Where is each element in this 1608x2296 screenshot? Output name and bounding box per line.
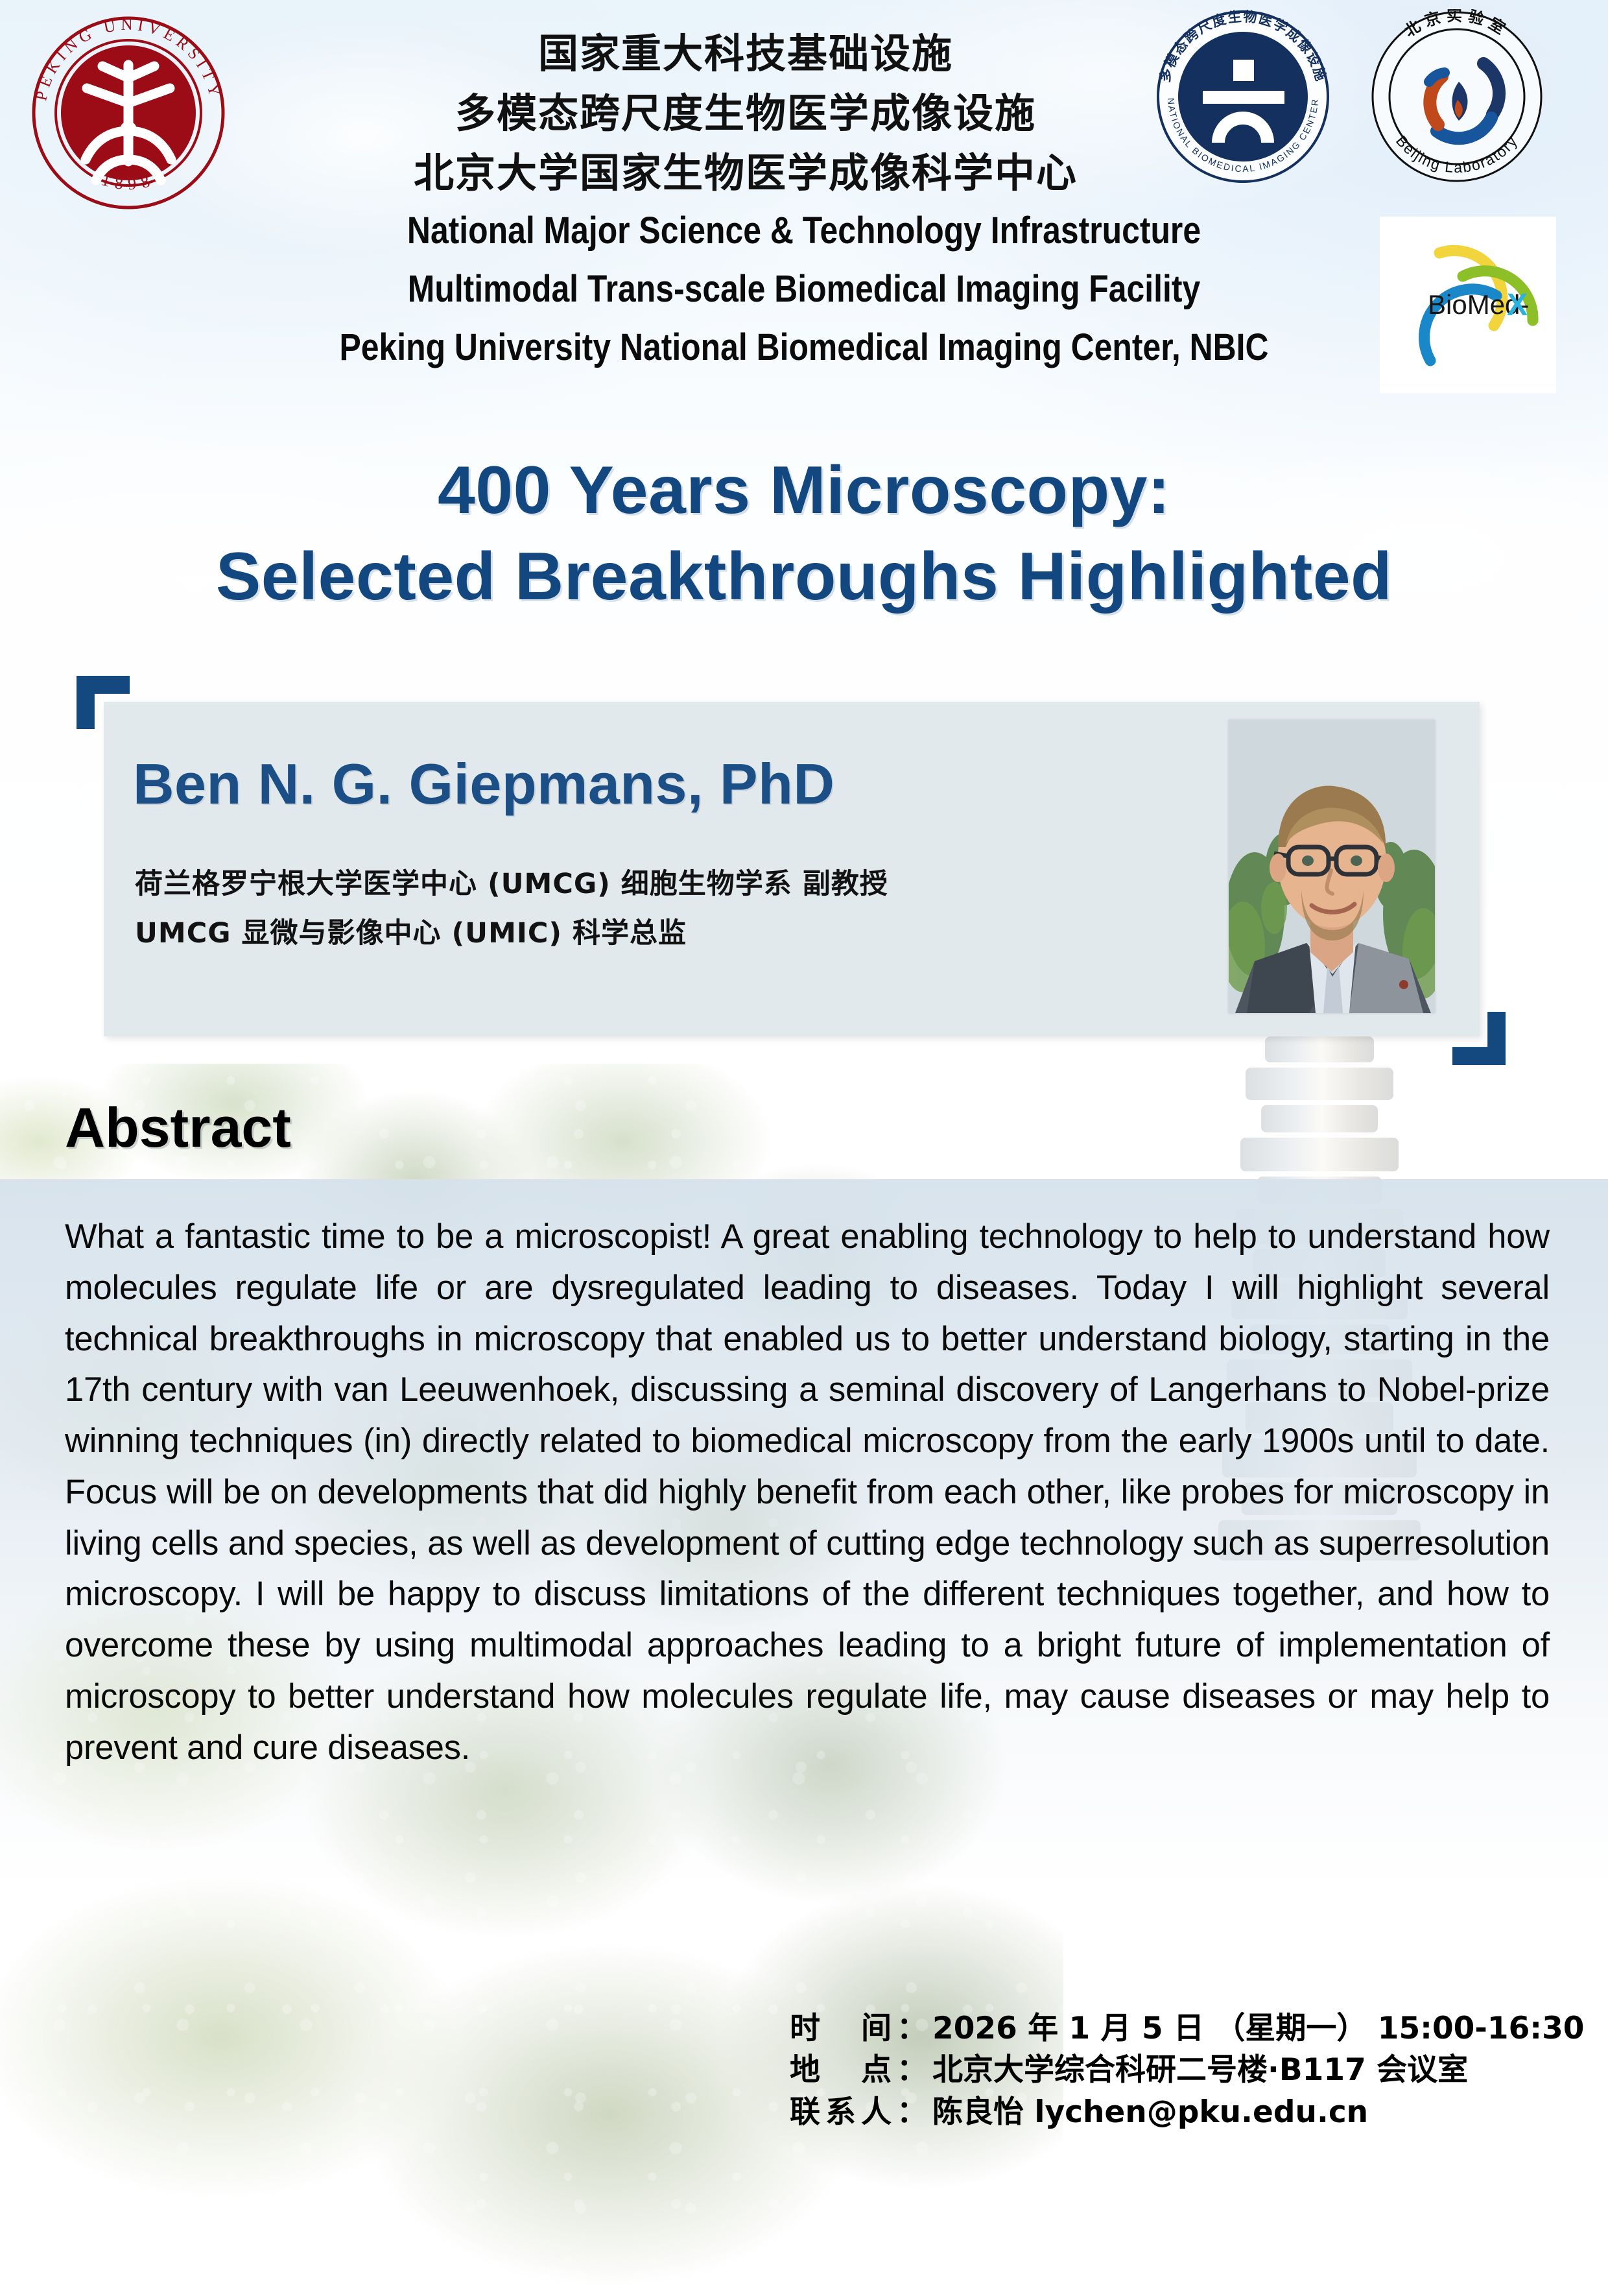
biomed-x-logo: BioMed- X (1380, 217, 1556, 393)
peking-university-logo: PEKING UNIVERSITY 1898 (31, 16, 226, 210)
event-place-label: 地 点： (790, 2052, 932, 2088)
beijing-laboratory-logo: 北京实验室 Beijing Laboratory (1369, 9, 1544, 184)
event-place-row: 地 点：北京大学综合科研二号楼·B117 会议室 (790, 2050, 1555, 2091)
nbic-logo: 多模态跨尺度生物医学成像设施 NATIONAL BIOMEDICAL IMAGI… (1155, 9, 1330, 184)
speaker-portrait-photo (1229, 720, 1435, 1013)
event-contact-value: 陈良怡 lychen@pku.edu.cn (932, 2094, 1368, 2130)
poster-title: 400 Years Microscopy: Selected Breakthro… (0, 448, 1608, 620)
header-cn-line-1: 国家重大科技基础设施 (337, 21, 1154, 79)
event-time-label: 时 间： (790, 2011, 932, 2046)
abstract-heading: Abstract (65, 1096, 291, 1160)
event-time-row: 时 间：2026 年 1 月 5 日 （星期一） 15:00-16:30 (790, 2008, 1555, 2050)
event-contact-row: 联系人：陈良怡 lychen@pku.edu.cn (790, 2092, 1555, 2133)
title-line-1: 400 Years Microscopy: (0, 448, 1608, 534)
event-details: 时 间：2026 年 1 月 5 日 （星期一） 15:00-16:30 地 点… (790, 2008, 1555, 2133)
header-cn-line-3: 北京大学国家生物医学成像科学中心 (337, 140, 1154, 198)
header-cn-line-2: 多模态跨尺度生物医学成像设施 (337, 80, 1154, 139)
speaker-affiliation-line-2: UMCG 显微与影像中心 (UMIC) 科学总监 (135, 911, 687, 951)
speaker-name: Ben N. G. Giepmans, PhD (133, 751, 834, 817)
svg-text:X: X (1507, 288, 1528, 322)
event-contact-label: 联系人： (790, 2094, 932, 2130)
header-en-line-3: Peking University National Biomedical Im… (280, 326, 1329, 369)
event-time-value: 2026 年 1 月 5 日 （星期一） 15:00-16:30 (932, 2011, 1584, 2046)
poster-header: PEKING UNIVERSITY 1898 (0, 0, 1608, 415)
event-place-value: 北京大学综合科研二号楼·B117 会议室 (932, 2052, 1468, 2088)
title-line-2: Selected Breakthroughs Highlighted (0, 534, 1608, 620)
header-en-line-2: Multimodal Trans-scale Biomedical Imagin… (280, 267, 1329, 311)
speaker-affiliation-line-1: 荷兰格罗宁根大学医学中心 (UMCG) 细胞生物学系 副教授 (135, 861, 888, 902)
header-en-line-1: National Major Science & Technology Infr… (280, 209, 1329, 252)
abstract-body-text: What a fantastic time to be a microscopi… (65, 1212, 1550, 1773)
